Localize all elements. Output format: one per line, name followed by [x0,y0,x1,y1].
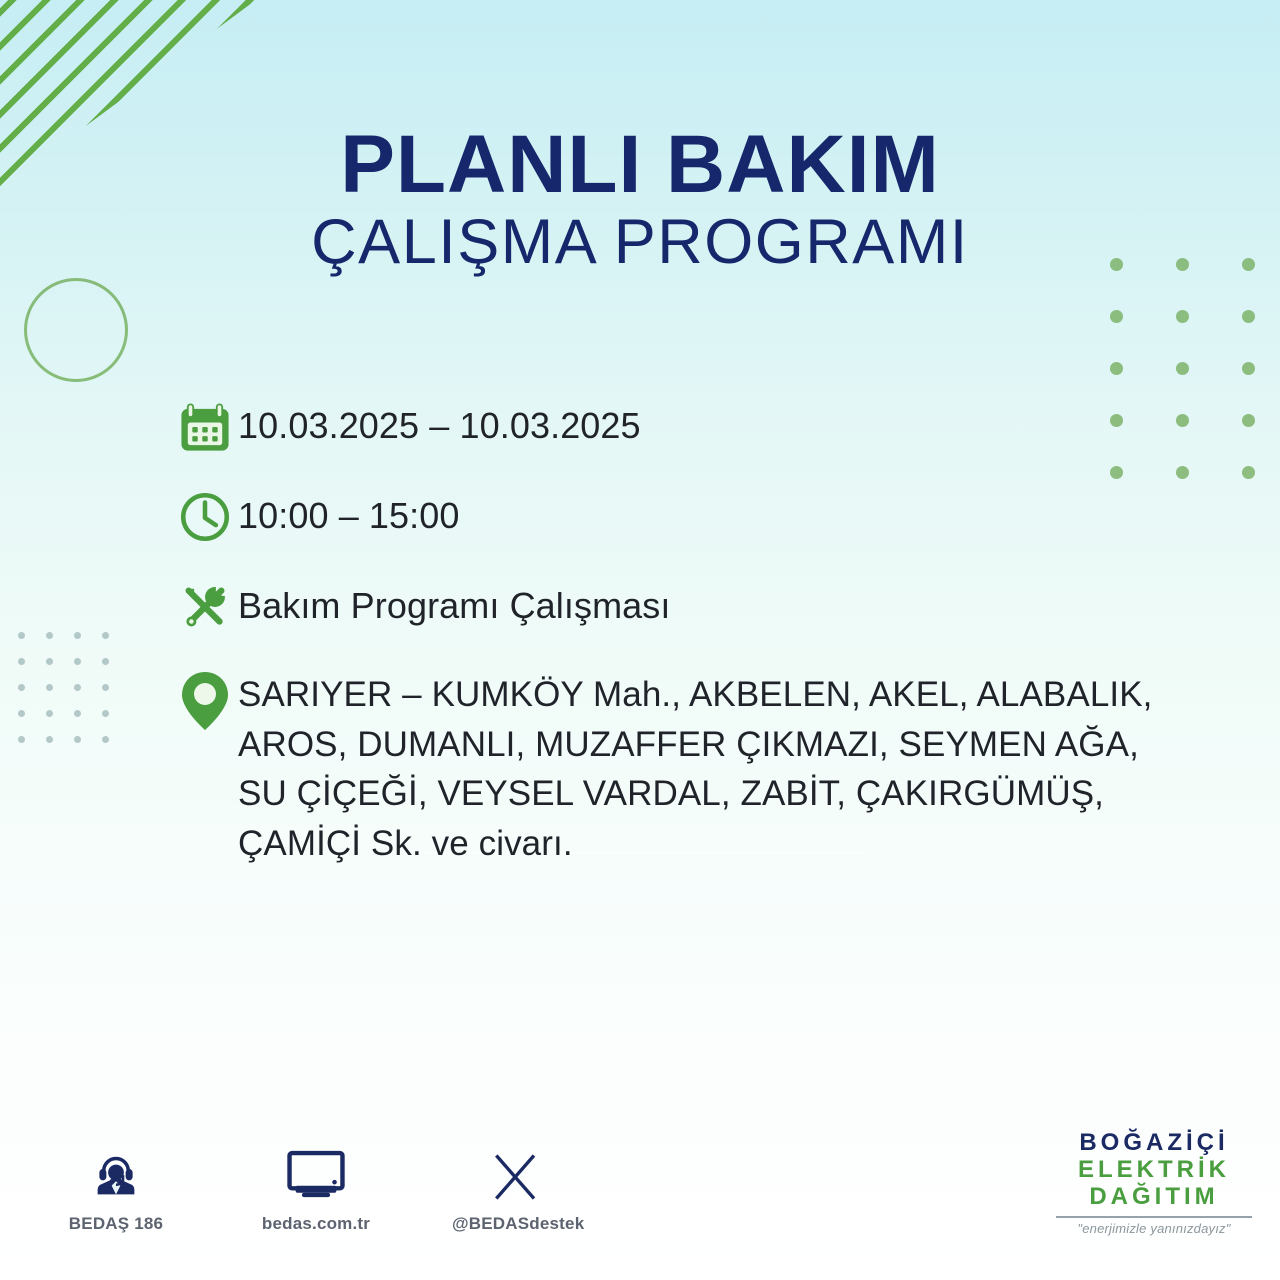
date-range-value: 10.03.2025 – 10.03.2025 [238,398,641,448]
brand-divider [1056,1216,1252,1218]
location-line: ÇAMİÇİ Sk. ve civarı. [238,819,1152,869]
info-row-date: 10.03.2025 – 10.03.2025 [176,398,1266,462]
info-row-time: 10:00 – 15:00 [176,488,1266,552]
calendar-icon [176,398,238,462]
location-line: AROS, DUMANLI, MUZAFFER ÇIKMAZI, SEYMEN … [238,720,1152,770]
contact-phone-label: BEDAŞ 186 [52,1214,180,1234]
contact-website[interactable]: bedas.com.tr [252,1142,380,1234]
work-type-value: Bakım Programı Çalışması [238,578,671,628]
map-pin-icon [176,668,238,738]
tools-icon [176,578,238,642]
location-line: SARIYER – KUMKÖY Mah., AKBELEN, AKEL, AL… [238,670,1152,720]
page-header: PLANLI BAKIM ÇALIŞMA PROGRAMI [0,126,1280,279]
contact-list: BEDAŞ 186 bedas.com.tr [52,1142,580,1234]
contact-social[interactable]: @BEDASdestek [452,1142,580,1234]
poster-canvas: PLANLI BAKIM ÇALIŞMA PROGRAMI [0,0,1280,1280]
brand-tagline: "enerjimizle yanınızdayız" [1050,1221,1258,1236]
contact-phone[interactable]: BEDAŞ 186 [52,1142,180,1234]
info-list: 10.03.2025 – 10.03.2025 10:00 – 15:00 [176,398,1266,895]
dot-grid-left-decoration [18,632,130,762]
wave-line-decoration [0,1040,1280,1042]
x-twitter-icon [452,1142,580,1204]
contact-website-label: bedas.com.tr [252,1214,380,1234]
location-text: SARIYER – KUMKÖY Mah., AKBELEN, AKEL, AL… [238,668,1152,869]
call-center-agent-icon [52,1142,180,1204]
brand-line-elektrik: ELEKTRİK [1050,1157,1258,1184]
brand-logo: BOĞAZİÇİ ELEKTRİK DAĞITIM "enerjimizle y… [1050,1130,1258,1236]
info-row-work: Bakım Programı Çalışması [176,578,1266,642]
clock-icon [176,488,238,552]
brand-line-dagitim: DAĞITIM [1050,1184,1258,1211]
page-title: PLANLI BAKIM [0,126,1280,205]
info-row-location: SARIYER – KUMKÖY Mah., AKBELEN, AKEL, AL… [176,668,1266,869]
brand-line-bogazici: BOĞAZİÇİ [1050,1130,1258,1157]
monitor-icon [252,1142,380,1204]
location-line: SU ÇİÇEĞİ, VEYSEL VARDAL, ZABİT, ÇAKIRGÜ… [238,769,1152,819]
circle-outline-decoration [24,278,128,382]
page-footer: BEDAŞ 186 bedas.com.tr [0,1142,1280,1280]
contact-social-label: @BEDASdestek [452,1214,580,1234]
page-subtitle: ÇALIŞMA PROGRAMI [0,205,1280,279]
time-range-value: 10:00 – 15:00 [238,488,460,538]
